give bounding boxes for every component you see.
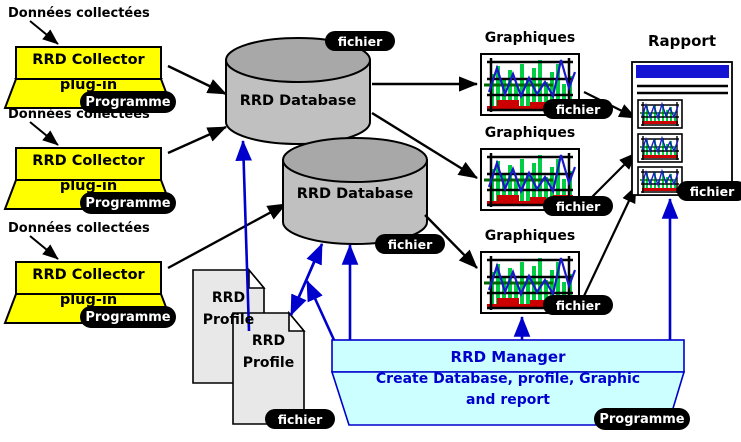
- badge-programme-1: Programme: [80, 91, 176, 113]
- report-thumbnail-2: [638, 134, 682, 162]
- graphics-caption-2: Graphiques: [470, 125, 590, 141]
- profile-label-2a: RRD: [233, 333, 304, 349]
- collector-label-2a: RRD Collector: [16, 153, 161, 169]
- database-1: [226, 38, 370, 144]
- arrow-collector3-to-db2: [168, 204, 286, 268]
- badge-fichier-graph3: fichier: [543, 295, 613, 315]
- collector-caption-3: Données collectées: [8, 221, 150, 236]
- badge-fichier-report: fichier: [677, 181, 741, 201]
- arrow-collector1-to-db1: [168, 66, 226, 94]
- graphics-caption-3: Graphiques: [470, 228, 590, 244]
- badge-programme-manager: Programme: [594, 408, 690, 430]
- manager-label-line1: RRD Manager: [332, 348, 684, 366]
- badge-programme-3: Programme: [80, 306, 176, 328]
- report-caption: Rapport: [632, 32, 732, 50]
- arrow-collector2-to-db1: [168, 127, 226, 153]
- database-label-2: RRD Database: [283, 186, 427, 202]
- arrow-manager-to-profile: [307, 281, 334, 340]
- collector-caption-1: Données collectées: [8, 6, 150, 21]
- collector-label-1a: RRD Collector: [16, 52, 161, 68]
- report-thumbnail-3: [638, 167, 682, 195]
- manager-label-line2: Create Database, profile, Graphic: [332, 371, 684, 387]
- badge-fichier-graph2: fichier: [543, 196, 613, 216]
- graphics-caption-1: Graphiques: [470, 30, 590, 46]
- badge-fichier-profile: fichier: [265, 409, 335, 429]
- badge-fichier-db2: fichier: [375, 234, 445, 254]
- badge-programme-2: Programme: [80, 192, 176, 214]
- profile-label-2b: Profile: [233, 355, 304, 371]
- report-page: [632, 62, 732, 195]
- badge-fichier-graph1: fichier: [543, 99, 613, 119]
- badge-fichier-db1: fichier: [325, 31, 395, 51]
- profile-label-1b: Profile: [193, 312, 264, 328]
- manager-label-line3: and report: [332, 392, 684, 408]
- caption-arrow-1: [30, 21, 58, 44]
- report-thumbnail-1: [638, 100, 682, 128]
- caption-arrow-2: [30, 122, 58, 145]
- diagram-canvas: Données collectées Données collectées Do…: [0, 0, 741, 442]
- database-label-1: RRD Database: [226, 93, 370, 109]
- report-titlebar: [636, 65, 729, 78]
- caption-arrow-3: [30, 236, 58, 259]
- collector-label-3a: RRD Collector: [16, 267, 161, 283]
- profile-label-1a: RRD: [193, 290, 264, 306]
